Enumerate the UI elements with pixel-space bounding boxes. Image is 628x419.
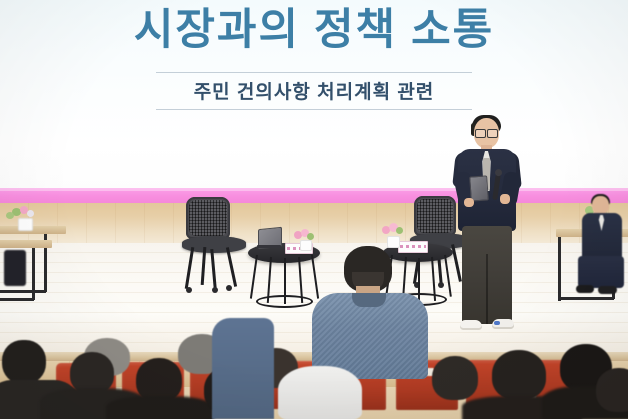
chair-caster [212, 287, 218, 293]
chair-caster [186, 287, 192, 293]
flower-vase-table-left [300, 240, 312, 251]
desk-rail [0, 298, 34, 301]
hand-right [500, 194, 510, 204]
standing-speaker [448, 114, 524, 342]
audience-head [492, 350, 546, 400]
subtitle-divider-bottom [156, 109, 472, 110]
seated-staff-right [572, 196, 628, 301]
shoe [598, 286, 617, 294]
screen-subtitle-block: 주민 건의사항 처리계획 관련 [0, 72, 628, 110]
trouser-seam [486, 254, 488, 324]
desk-top [0, 240, 52, 248]
mesh-chair-left [182, 197, 248, 295]
table-base-ring [256, 295, 313, 308]
audience-head [596, 368, 628, 412]
shoe [576, 285, 594, 293]
head [2, 340, 46, 384]
desk-leg [558, 237, 561, 301]
tablet-stand [257, 245, 281, 248]
chair-leg [226, 247, 237, 287]
flower-bloom [27, 210, 34, 217]
foliage [6, 212, 14, 219]
desk-top [0, 226, 66, 234]
screen-title: 시장과의 정책 소통 [0, 8, 628, 53]
chair-leg [201, 247, 207, 285]
chair-back [186, 197, 230, 239]
hand-left [464, 198, 474, 207]
collar [352, 293, 386, 307]
foliage [396, 227, 403, 234]
foliage [307, 233, 314, 240]
glasses-icon [475, 129, 498, 136]
chair-leg [185, 247, 195, 289]
chair-caster [226, 285, 232, 291]
screen-subtitle: 주민 건의사항 처리계획 관련 [0, 73, 628, 109]
chair-leg [210, 249, 216, 289]
shoe-right [492, 319, 514, 329]
audience-white-cap [278, 366, 362, 419]
equipment-case-left [4, 250, 26, 286]
shoe-left [460, 320, 482, 330]
audience-standing-denim [212, 318, 274, 419]
legs [578, 256, 624, 288]
projection-screen: 시장과의 정책 소통 주민 건의사항 처리계획 관련 [0, 0, 628, 192]
front-audience-denim [312, 246, 428, 376]
audience-shoulders [106, 396, 214, 419]
flower-vase-left [18, 218, 33, 231]
desk-leg [32, 248, 35, 300]
audience-head [432, 356, 478, 400]
torso [212, 318, 274, 419]
conference-photo: 시장과의 정책 소통 주민 건의사항 처리계획 관련 [0, 0, 628, 419]
table-spoke [250, 255, 258, 299]
